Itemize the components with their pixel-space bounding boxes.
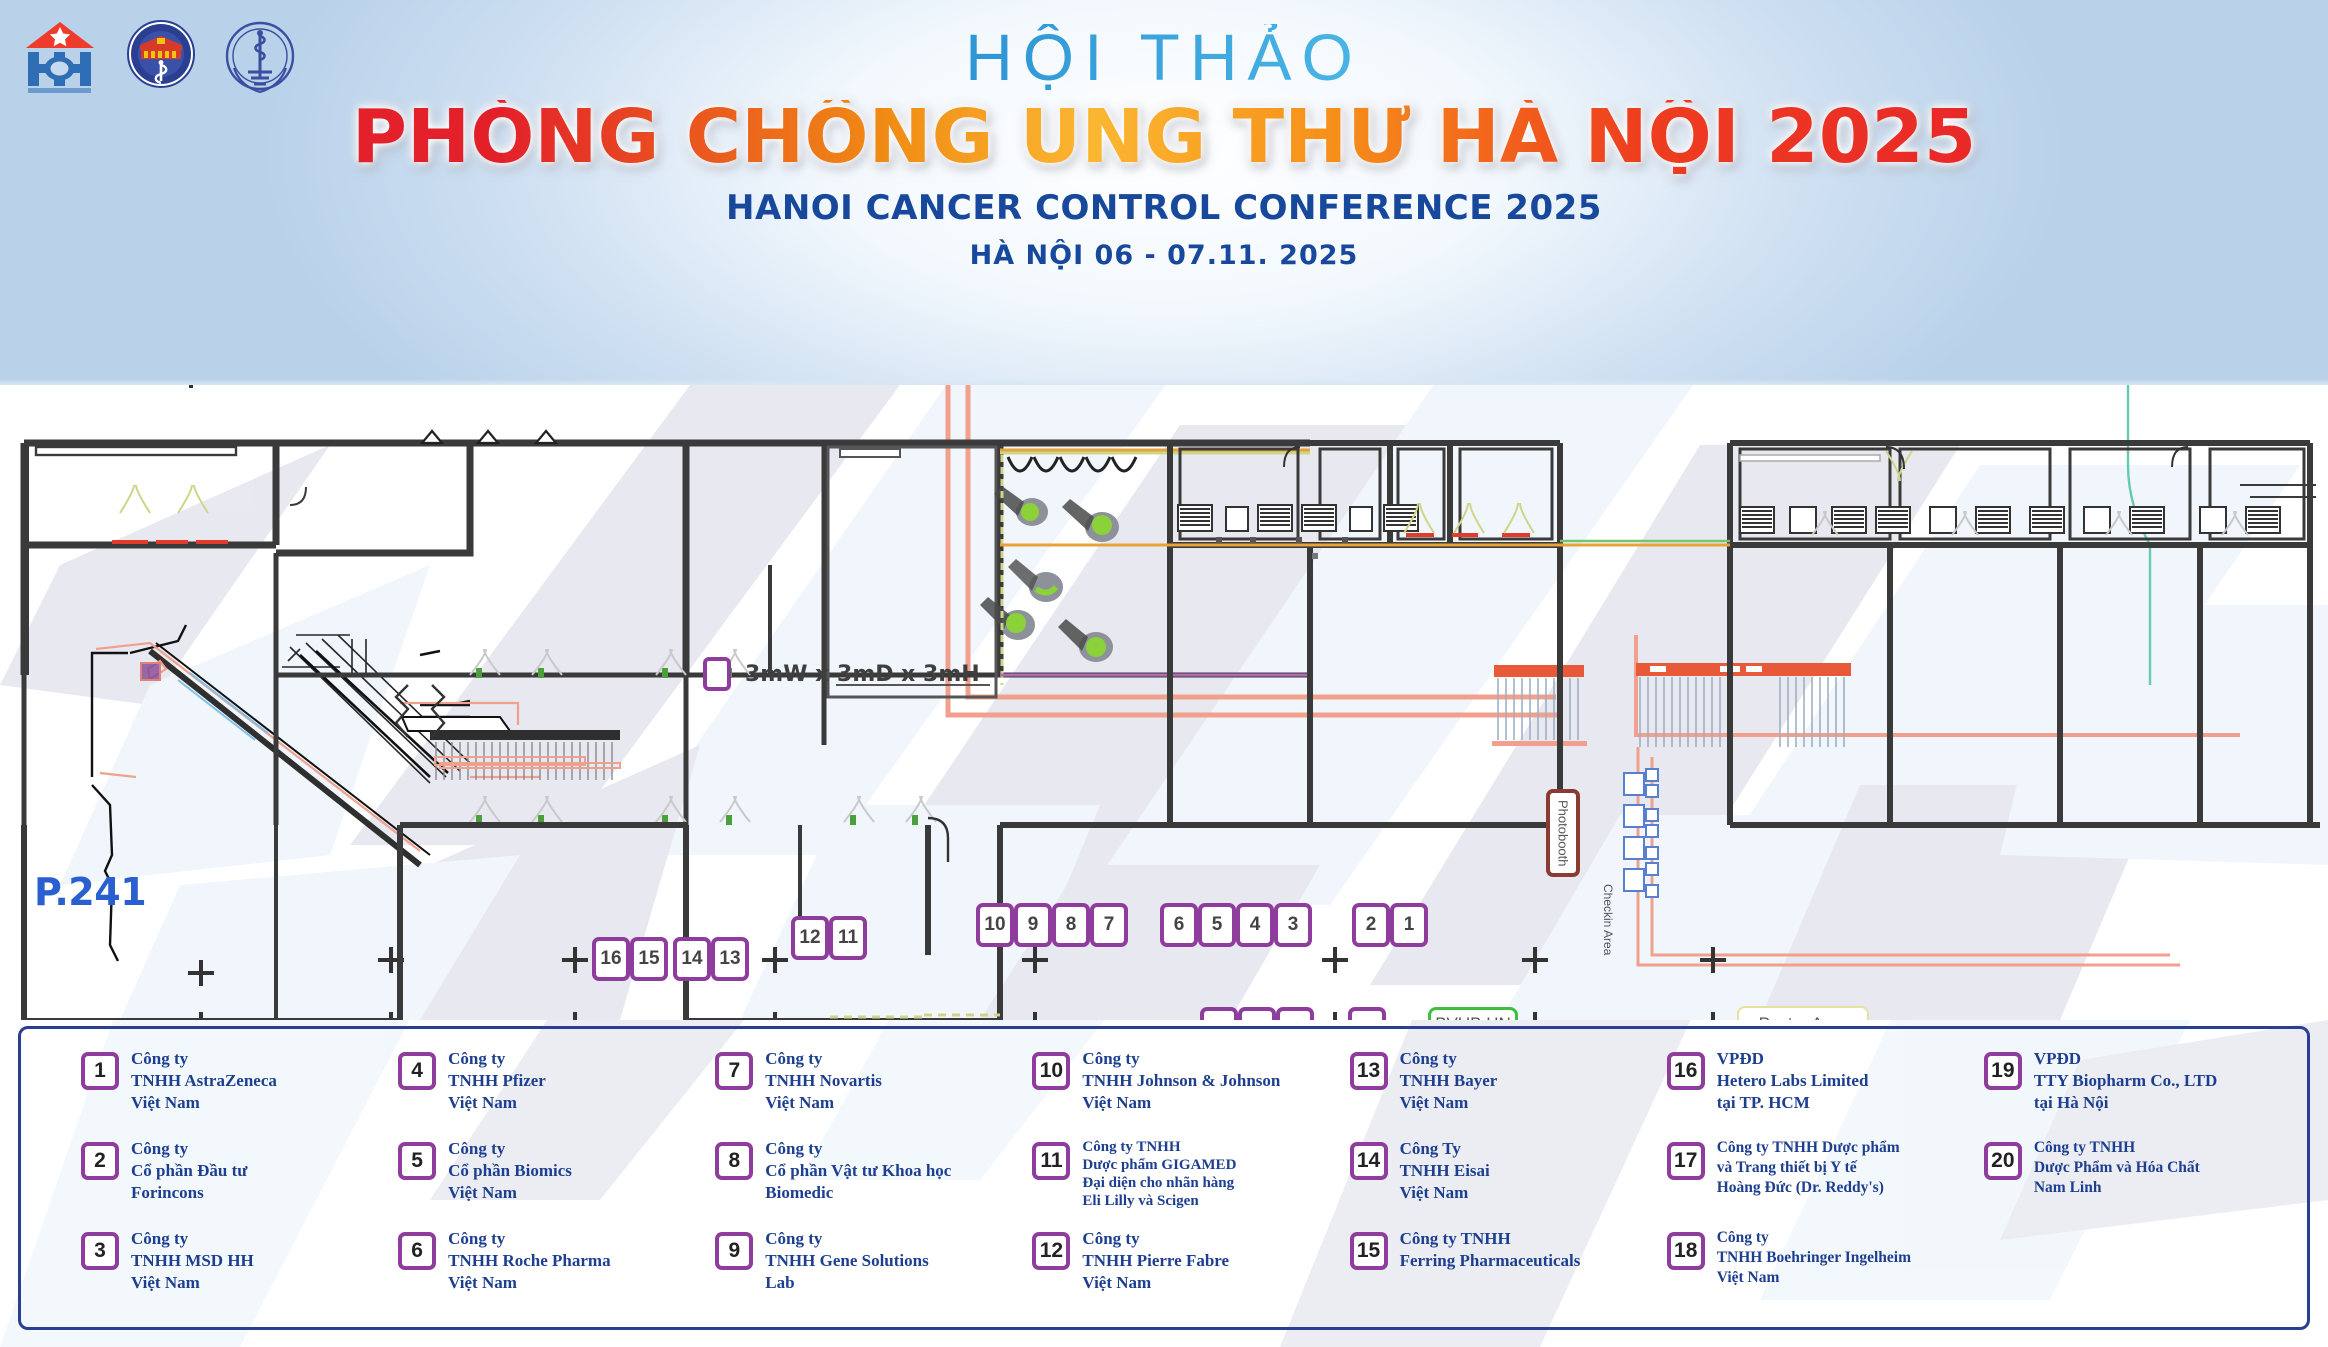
legend-item-11[interactable]: 11 Công ty TNHH Dược phẩm GIGAMED Đại di… (1032, 1135, 1349, 1225)
legend-num-10: 10 (1032, 1052, 1070, 1090)
legend-line: Công ty TNHH (1082, 1138, 1236, 1156)
legend-label-10: Công ty TNHH Johnson & Johnson Việt Nam (1082, 1045, 1280, 1113)
legend-item-7[interactable]: 7 Công ty TNHH Novartis Việt Nam (715, 1045, 1032, 1135)
legend-item-4[interactable]: 4 Công ty TNHH Pfizer Việt Nam (398, 1045, 715, 1135)
booth-3[interactable]: 3 (1274, 903, 1312, 947)
legend-line: Công ty (448, 1138, 572, 1160)
legend-label-7: Công ty TNHH Novartis Việt Nam (765, 1045, 882, 1113)
legend-line: TNHH Eisai (1400, 1160, 1490, 1182)
page-title-english: HANOI CANCER CONTROL CONFERENCE 2025 (0, 188, 2328, 228)
legend-label-13: Công ty TNHH Bayer Việt Nam (1400, 1045, 1498, 1113)
legend-line: Công ty TNHH (1400, 1228, 1581, 1250)
legend-line: Công Ty (1400, 1138, 1490, 1160)
legend-line: và Trang thiết bị Y tế (1717, 1158, 1900, 1178)
legend-line: Việt Nam (1082, 1092, 1280, 1114)
booth-size-key: 3mW x 3mD x 3mH (703, 657, 980, 691)
legend-line: Công ty (448, 1228, 610, 1250)
legend-line: Việt Nam (448, 1272, 610, 1294)
legend-num-9: 9 (715, 1232, 753, 1270)
booth-7[interactable]: 7 (1090, 903, 1128, 947)
booth-9[interactable]: 9 (1014, 903, 1052, 947)
legend-line: tại Hà Nội (2034, 1092, 2217, 1114)
page-title: PHÒNG CHỐNG UNG THƯ HÀ NỘI 2025 (0, 100, 2328, 174)
legend-num-1: 1 (81, 1052, 119, 1090)
legend-line: Công ty (131, 1048, 277, 1070)
legend-item-8[interactable]: 8 Công ty Cổ phần Vật tư Khoa học Biomed… (715, 1135, 1032, 1225)
legend-line: TNHH Boehringer Ingelheim (1717, 1248, 1911, 1268)
room-label-P241: P.241 (34, 870, 146, 914)
legend-line: Lab (765, 1272, 928, 1294)
legend-num-20: 20 (1984, 1142, 2022, 1180)
legend-num-8: 8 (715, 1142, 753, 1180)
legend-label-3: Công ty TNHH MSD HH Việt Nam (131, 1225, 254, 1293)
legend-item-13[interactable]: 13 Công ty TNHH Bayer Việt Nam (1350, 1045, 1667, 1135)
legend-item-12[interactable]: 12 Công ty TNHH Pierre Fabre Việt Nam (1032, 1225, 1349, 1315)
legend-item-14[interactable]: 14 Công Ty TNHH Eisai Việt Nam (1350, 1135, 1667, 1225)
bvub-hn-tag[interactable]: BVUB HN (1428, 1007, 1518, 1020)
legend-num-2: 2 (81, 1142, 119, 1180)
legend-line: Dược Phẩm và Hóa Chất (2034, 1158, 2200, 1178)
legend-label-17: Công ty TNHH Dược phẩm và Trang thiết bị… (1717, 1135, 1900, 1197)
legend-line: Nam Linh (2034, 1178, 2200, 1198)
legend-label-4: Công ty TNHH Pfizer Việt Nam (448, 1045, 546, 1113)
legend-item-9[interactable]: 9 Công ty TNHH Gene Solutions Lab (715, 1225, 1032, 1315)
booth-20[interactable]: 20 (1348, 1007, 1386, 1020)
legend-num-14: 14 (1350, 1142, 1388, 1180)
legend-line: Công ty TNHH Dược phẩm (1717, 1138, 1900, 1158)
legend-line: tại TP. HCM (1717, 1092, 1869, 1114)
legend-line: Biomedic (765, 1182, 951, 1204)
legend-item-6[interactable]: 6 Công ty TNHH Roche Pharma Việt Nam (398, 1225, 715, 1315)
legend-line: Công ty TNHH (2034, 1138, 2200, 1158)
legend-line: Hoàng Đức (Dr. Reddy's) (1717, 1178, 1900, 1198)
legend-item-19[interactable]: 19 VPĐD TTY Biopharm Co., LTD tại Hà Nội (1984, 1045, 2301, 1135)
booth-2[interactable]: 2 (1352, 903, 1390, 947)
legend-line: Hetero Labs Limited (1717, 1070, 1869, 1092)
legend-line: TNHH Novartis (765, 1070, 882, 1092)
legend-line: Việt Nam (448, 1092, 546, 1114)
legend-label-15: Công ty TNHH Ferring Pharmaceuticals (1400, 1225, 1581, 1272)
legend-label-8: Công ty Cổ phần Vật tư Khoa học Biomedic (765, 1135, 951, 1203)
legend-line: TNHH Pierre Fabre (1082, 1250, 1229, 1272)
booth-12[interactable]: 12 (791, 916, 829, 960)
legend-num-7: 7 (715, 1052, 753, 1090)
booth-8[interactable]: 8 (1052, 903, 1090, 947)
booth-size-label: 3mW x 3mD x 3mH (745, 662, 980, 687)
floorplan-map[interactable]: 3mW x 3mD x 3mH 16 15 14 13 12 11 10 9 8… (0, 385, 2328, 1020)
legend-line: Công ty (1082, 1048, 1280, 1070)
legend-label-12: Công ty TNHH Pierre Fabre Việt Nam (1082, 1225, 1229, 1293)
conference-dateline: HÀ NỘI 06 - 07.11. 2025 (0, 240, 2328, 271)
legend-line: Công ty (448, 1048, 546, 1070)
legend-line: Việt Nam (131, 1092, 277, 1114)
legend-line: Dược phẩm GIGAMED (1082, 1156, 1236, 1174)
legend-num-15: 15 (1350, 1232, 1388, 1270)
legend-line: TTY Biopharm Co., LTD (2034, 1070, 2217, 1092)
booth-15[interactable]: 15 (630, 937, 668, 981)
legend-num-3: 3 (81, 1232, 119, 1270)
legend-line: Cổ phần Vật tư Khoa học (765, 1160, 951, 1182)
booth-5[interactable]: 5 (1198, 903, 1236, 947)
legend-label-11: Công ty TNHH Dược phẩm GIGAMED Đại diện … (1082, 1135, 1236, 1210)
conference-header-banner: HỘI THẢO PHÒNG CHỐNG UNG THƯ HÀ NỘI 2025… (0, 0, 2328, 385)
legend-line: Việt Nam (1717, 1268, 1911, 1288)
exhibitor-legend-grid: 1 Công ty TNHH AstraZeneca Việt Nam 2 Cô… (21, 1029, 2307, 1327)
legend-line: Công ty (1082, 1228, 1229, 1250)
photobooth-tag[interactable]: Photobooth (1546, 789, 1580, 877)
legend-line: Forincons (131, 1182, 248, 1204)
legend-num-4: 4 (398, 1052, 436, 1090)
legend-line: Việt Nam (1400, 1092, 1498, 1114)
header-kicker: HỘI THẢO (0, 24, 2328, 90)
legend-line: Công ty (131, 1138, 248, 1160)
legend-line: Cổ phần Đầu tư (131, 1160, 248, 1182)
legend-line: Việt Nam (448, 1182, 572, 1204)
legend-line: VPĐD (2034, 1048, 2217, 1070)
booth-18[interactable]: 18 (1238, 1007, 1276, 1020)
legend-label-14: Công Ty TNHH Eisai Việt Nam (1400, 1135, 1490, 1203)
legend-num-17: 17 (1667, 1142, 1705, 1180)
legend-num-6: 6 (398, 1232, 436, 1270)
legend-item-3[interactable]: 3 Công ty TNHH MSD HH Việt Nam (81, 1225, 398, 1315)
checkin-area-tag: Checkin Area (1598, 875, 1618, 965)
exhibitor-legend: 1 Công ty TNHH AstraZeneca Việt Nam 2 Cô… (18, 1026, 2310, 1330)
legend-item-16[interactable]: 16 VPĐD Hetero Labs Limited tại TP. HCM (1667, 1045, 1984, 1135)
legend-num-13: 13 (1350, 1052, 1388, 1090)
booth-14[interactable]: 14 (673, 937, 711, 981)
legend-label-19: VPĐD TTY Biopharm Co., LTD tại Hà Nội (2034, 1045, 2217, 1113)
legend-line: Công ty (1717, 1228, 1911, 1248)
legend-line: Đại diện cho nhãn hàng (1082, 1174, 1236, 1192)
legend-line: Việt Nam (131, 1272, 254, 1294)
legend-num-12: 12 (1032, 1232, 1070, 1270)
legend-line: TNHH Pfizer (448, 1070, 546, 1092)
booth-4[interactable]: 4 (1236, 903, 1274, 947)
legend-line: Công ty (131, 1228, 254, 1250)
legend-line: Công ty (1400, 1048, 1498, 1070)
booth-6[interactable]: 6 (1160, 903, 1198, 947)
booth-size-swatch (703, 657, 731, 691)
legend-num-18: 18 (1667, 1232, 1705, 1270)
legend-label-9: Công ty TNHH Gene Solutions Lab (765, 1225, 928, 1293)
booth-1[interactable]: 1 (1390, 903, 1428, 947)
booth-17[interactable]: 17 (1200, 1007, 1238, 1020)
legend-line: Việt Nam (1082, 1272, 1229, 1294)
legend-label-2: Công ty Cổ phần Đầu tư Forincons (131, 1135, 248, 1203)
legend-line: TNHH Johnson & Johnson (1082, 1070, 1280, 1092)
legend-line: Cổ phần Biomics (448, 1160, 572, 1182)
legend-num-16: 16 (1667, 1052, 1705, 1090)
legend-item-20[interactable]: 20 Công ty TNHH Dược Phẩm và Hóa Chất Na… (1984, 1135, 2301, 1225)
legend-line: TNHH AstraZeneca (131, 1070, 277, 1092)
legend-item-15[interactable]: 15 Công ty TNHH Ferring Pharmaceuticals (1350, 1225, 1667, 1315)
legend-line: TNHH Roche Pharma (448, 1250, 610, 1272)
booth-11[interactable]: 11 (829, 916, 867, 960)
legend-item-1[interactable]: 1 Công ty TNHH AstraZeneca Việt Nam (81, 1045, 398, 1135)
legend-line: VPĐD (1717, 1048, 1869, 1070)
legend-line: Công ty (765, 1138, 951, 1160)
legend-line: Việt Nam (1400, 1182, 1490, 1204)
legend-label-6: Công ty TNHH Roche Pharma Việt Nam (448, 1225, 610, 1293)
legend-item-18[interactable]: 18 Công ty TNHH Boehringer Ingelheim Việ… (1667, 1225, 1984, 1315)
legend-label-5: Công ty Cổ phần Biomics Việt Nam (448, 1135, 572, 1203)
legend-item-2[interactable]: 2 Công ty Cổ phần Đầu tư Forincons (81, 1135, 398, 1225)
legend-label-18: Công ty TNHH Boehringer Ingelheim Việt N… (1717, 1225, 1911, 1287)
legend-line: Ferring Pharmaceuticals (1400, 1250, 1581, 1272)
legend-line: Công ty (765, 1048, 882, 1070)
poster-area-tag[interactable]: Poster Area (1737, 1006, 1869, 1020)
legend-line: TNHH Bayer (1400, 1070, 1498, 1092)
legend-line: Việt Nam (765, 1092, 882, 1114)
legend-item-5[interactable]: 5 Công ty Cổ phần Biomics Việt Nam (398, 1135, 715, 1225)
booth-16[interactable]: 16 (592, 937, 630, 981)
legend-label-1: Công ty TNHH AstraZeneca Việt Nam (131, 1045, 277, 1113)
legend-line: TNHH Gene Solutions (765, 1250, 928, 1272)
legend-item-17[interactable]: 17 Công ty TNHH Dược phẩm và Trang thiết… (1667, 1135, 1984, 1225)
legend-num-19: 19 (1984, 1052, 2022, 1090)
booth-10[interactable]: 10 (976, 903, 1014, 947)
legend-line: Eli Lilly và Scigen (1082, 1192, 1236, 1210)
legend-line: Công ty (765, 1228, 928, 1250)
legend-label-20: Công ty TNHH Dược Phẩm và Hóa Chất Nam L… (2034, 1135, 2200, 1197)
legend-line: TNHH MSD HH (131, 1250, 254, 1272)
booth-19[interactable]: 19 (1276, 1007, 1314, 1020)
legend-item-10[interactable]: 10 Công ty TNHH Johnson & Johnson Việt N… (1032, 1045, 1349, 1135)
booth-13[interactable]: 13 (711, 937, 749, 981)
legend-label-16: VPĐD Hetero Labs Limited tại TP. HCM (1717, 1045, 1869, 1113)
legend-num-5: 5 (398, 1142, 436, 1180)
legend-num-11: 11 (1032, 1142, 1070, 1180)
